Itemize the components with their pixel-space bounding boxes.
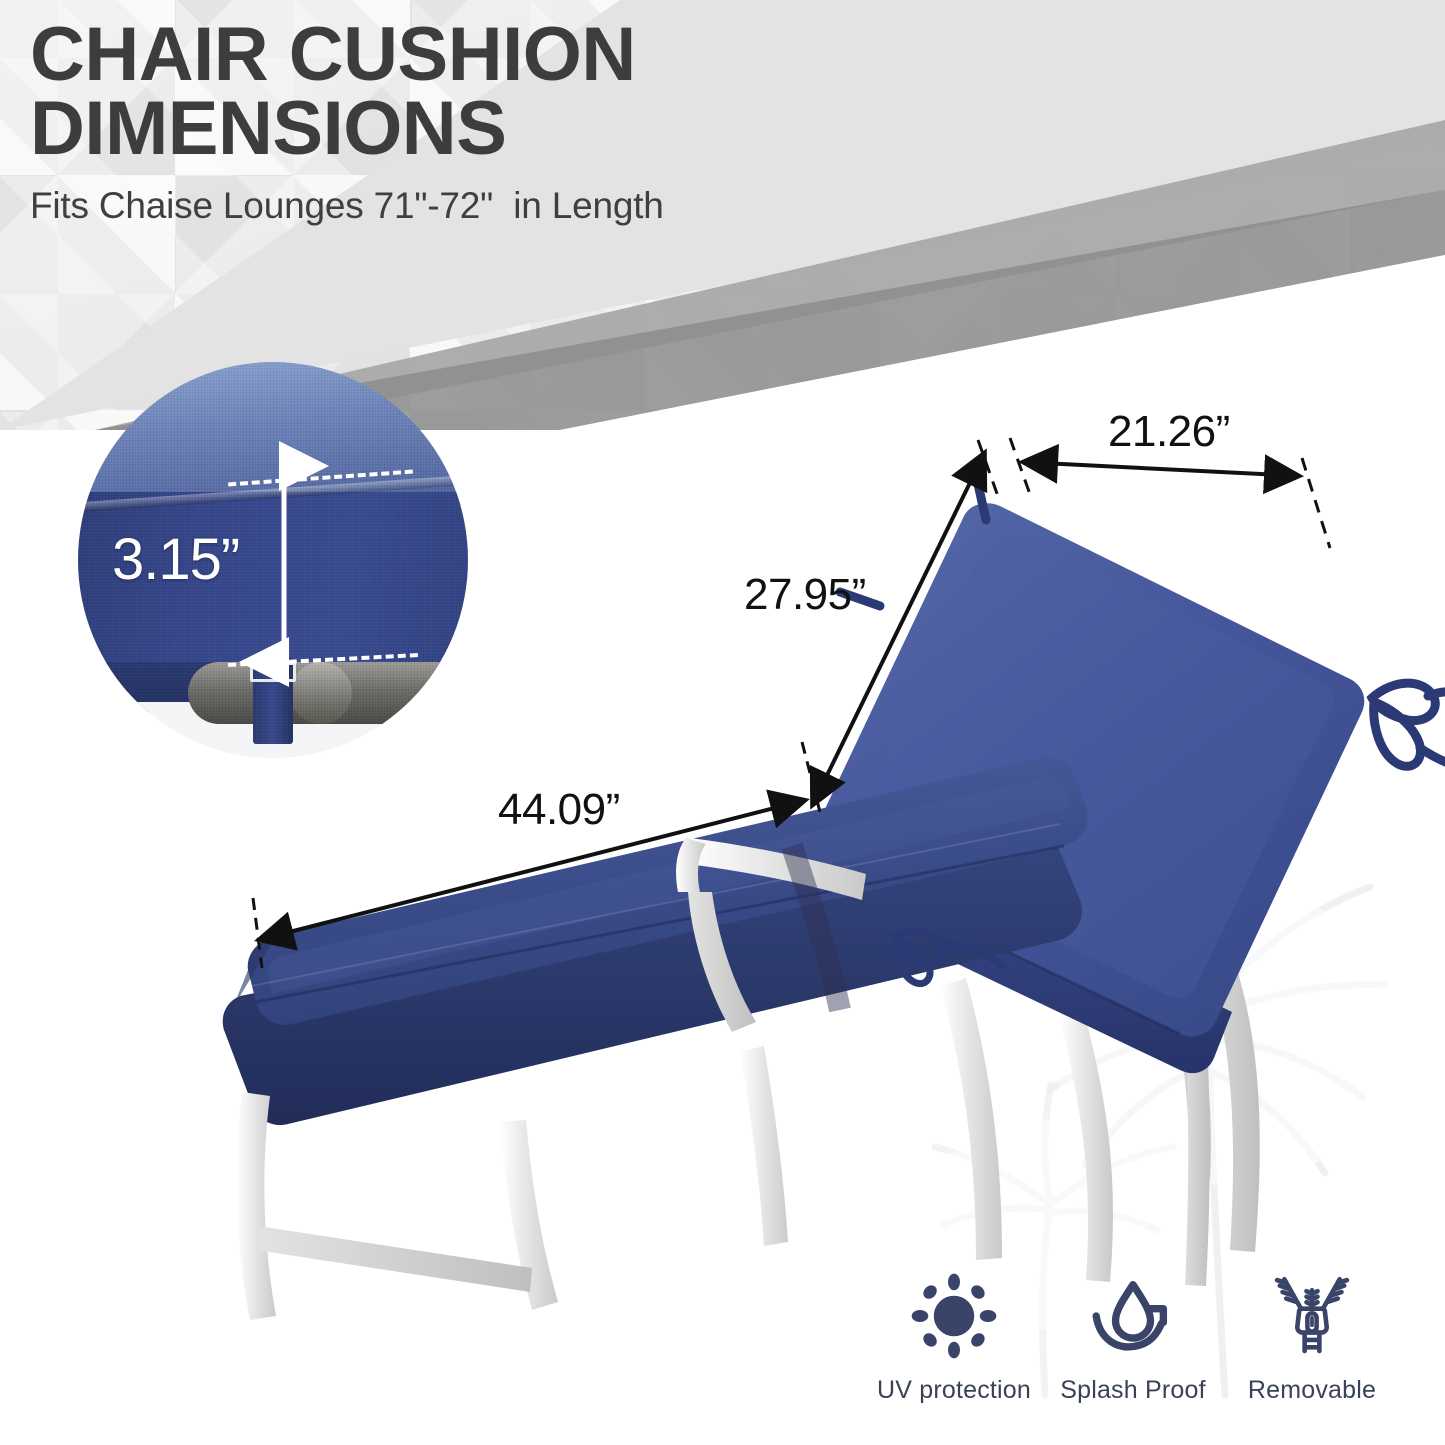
feature-label-splash-proof: Splash Proof xyxy=(1060,1376,1206,1405)
cushion-thickness-detail-inset: 3.15” xyxy=(78,362,468,758)
infographic-page: CHAIR CUSHION DIMENSIONS Fits Chaise Lou… xyxy=(0,0,1445,1445)
inset-thickness-label: 3.15” xyxy=(112,526,239,593)
dimension-label-backrest: 27.95” xyxy=(744,570,866,620)
feature-removable: Removable xyxy=(1226,1268,1398,1405)
feature-list: UV protection Splash Proof xyxy=(868,1268,1398,1440)
dimension-label-width: 21.26” xyxy=(1108,407,1230,457)
sun-icon xyxy=(906,1268,1002,1364)
feature-uv-protection: UV protection xyxy=(868,1268,1040,1405)
dimension-arrow-backrest xyxy=(802,452,985,812)
dimension-label-seat: 44.09” xyxy=(498,785,620,835)
zipper-icon xyxy=(1264,1268,1360,1364)
feature-label-removable: Removable xyxy=(1248,1376,1376,1405)
feature-label-uv-protection: UV protection xyxy=(877,1376,1031,1405)
feature-splash-proof: Splash Proof xyxy=(1047,1268,1219,1405)
droplet-icon xyxy=(1085,1268,1181,1364)
